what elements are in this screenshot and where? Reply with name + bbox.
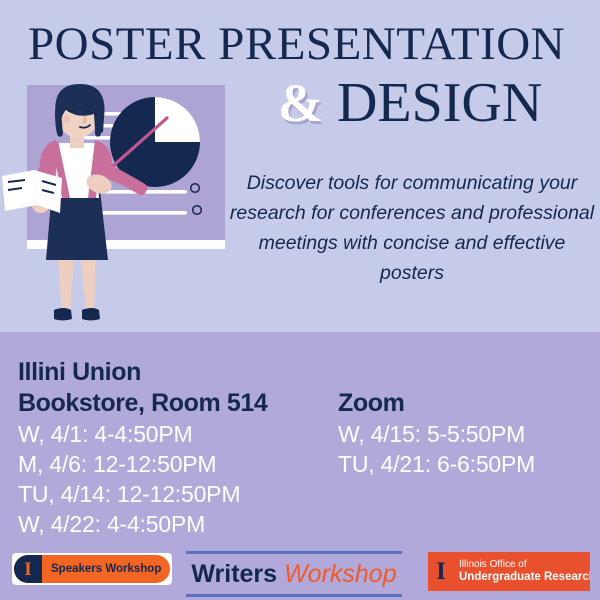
venue-line-2: Bookstore, Room 514 [18,388,318,419]
poster-canvas: POSTER PRESENTATION &DESIGN Discover too… [0,0,600,600]
figure-leg-left [57,251,74,313]
logo-undergraduate-research: I Illinois Office of Undergraduate Resea… [428,552,590,591]
held-papers-left-page [2,170,37,211]
session-item: W, 4/22: 4-4:50PM [18,509,338,539]
figure-shoe-right [82,308,100,321]
speakers-workshop-label: Speakers Workshop [42,563,161,575]
figure-leg-right [80,251,96,313]
session-list-illini-union: W, 4/1: 4-4:50PM M, 4/6: 12-12:50PM TU, … [18,419,338,539]
session-item: M, 4/6: 12-12:50PM [18,449,338,479]
venue-title-illini-union: Illini Union Bookstore, Room 514 [18,357,318,419]
figure-shoe-left [54,308,72,321]
headline-line-1: POSTER PRESENTATION [28,18,588,70]
logo-bar: I Speakers Workshop Writers Workshop I I… [0,545,600,600]
figure-hair-side-right [95,110,102,137]
venue-line-1: Illini Union [18,357,318,388]
board-text-line [95,211,187,215]
writers-word: Writers [191,560,277,589]
headline-line-2: &DESIGN [278,72,598,134]
illinois-i-block-icon: I [14,555,42,583]
ugr-line-2: Undergraduate Research [459,571,590,584]
headline-design-word: DESIGN [337,72,542,134]
workshop-word: Workshop [277,560,397,589]
session-item: TU, 4/21: 6-6:50PM [338,449,588,479]
session-item: W, 4/15: 5-5:50PM [338,419,588,449]
ampersand-glyph: & [278,73,323,133]
session-list-zoom: W, 4/15: 5-5:50PM TU, 4/21: 6-6:50PM [338,419,588,479]
subtitle-text: Discover tools for communicating your re… [228,168,596,288]
session-item: TU, 4/14: 12-12:50PM [18,479,338,509]
logo-speakers-workshop: I Speakers Workshop [12,553,172,585]
venue-line-1: Zoom [338,388,578,419]
session-item: W, 4/1: 4-4:50PM [18,419,338,449]
presenter-illustration [0,70,250,340]
illinois-i-block-icon: I [428,552,454,591]
speakers-pill: I Speakers Workshop [14,555,170,583]
ugr-line-1: Illinois Office of [459,559,590,570]
figure-cheek [62,115,70,123]
logo-writers-workshop: Writers Workshop [186,551,402,597]
venue-title-zoom: Zoom [338,388,578,419]
ugr-text-block: Illinois Office of Undergraduate Researc… [454,559,590,583]
